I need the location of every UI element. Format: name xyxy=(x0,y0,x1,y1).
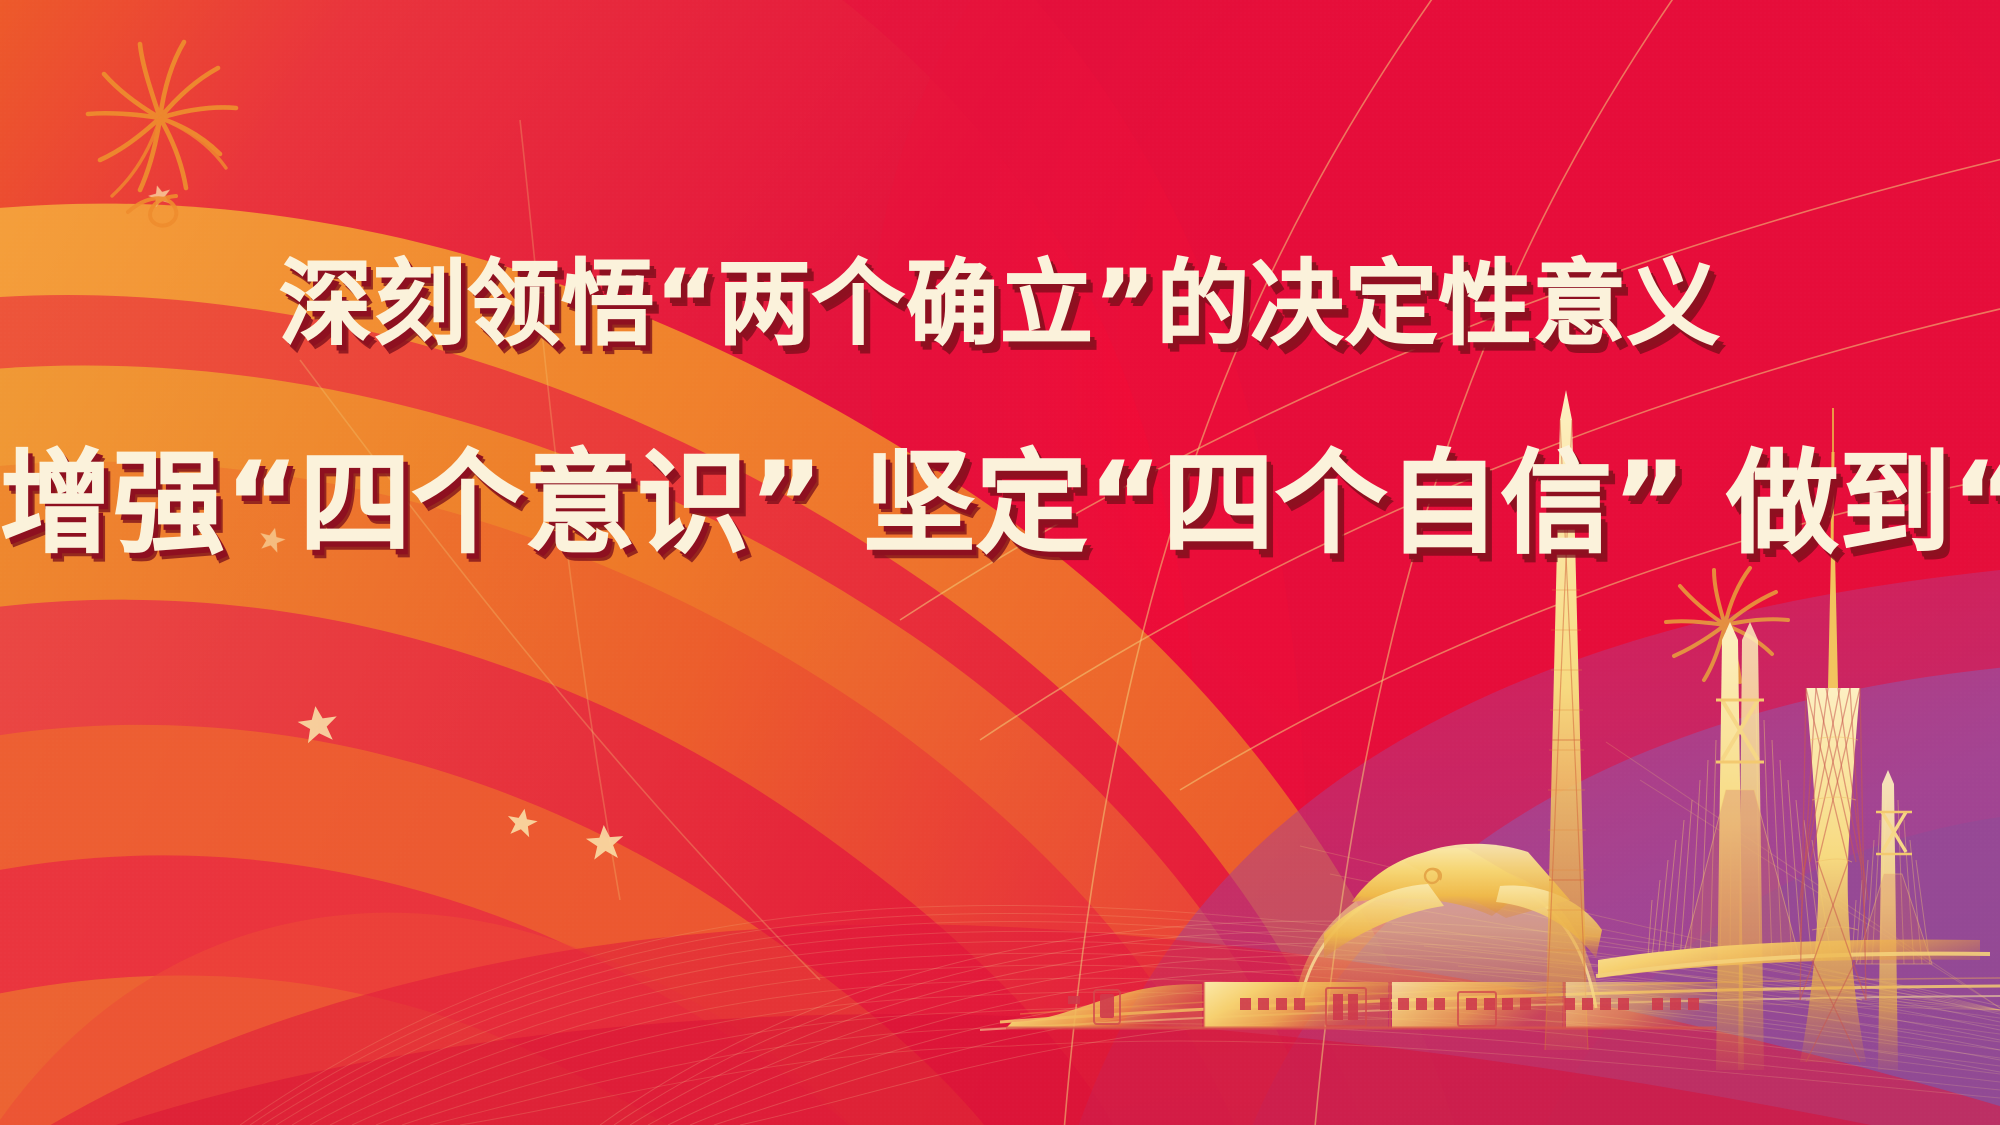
background-art xyxy=(0,0,2000,1125)
dot-texture-overlay xyxy=(0,0,2000,1125)
poster-canvas: 深刻领悟“两个确立”的决定性意义 增强“四个意识” 坚定“四个自信” 做到“两个… xyxy=(0,0,2000,1125)
